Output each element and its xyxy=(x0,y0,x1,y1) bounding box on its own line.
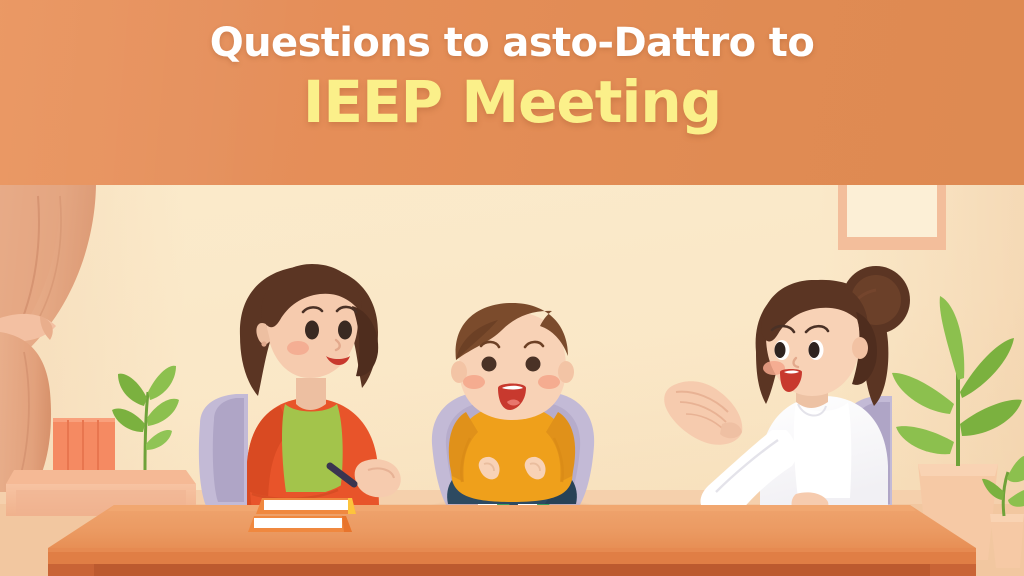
books-on-cabinet xyxy=(53,418,115,470)
meeting-table xyxy=(36,505,988,576)
wall-picture-frame xyxy=(838,182,946,250)
illustration-canvas: Questions to asto-Dattro to IEEP Meeting xyxy=(0,0,1024,576)
title-line-1: Questions to asto-Dattro to xyxy=(210,22,814,64)
title-line-2: IEEP Meeting xyxy=(303,72,721,133)
title-block: Questions to asto-Dattro to IEEP Meeting xyxy=(0,0,1024,185)
mother-chair xyxy=(199,394,248,506)
